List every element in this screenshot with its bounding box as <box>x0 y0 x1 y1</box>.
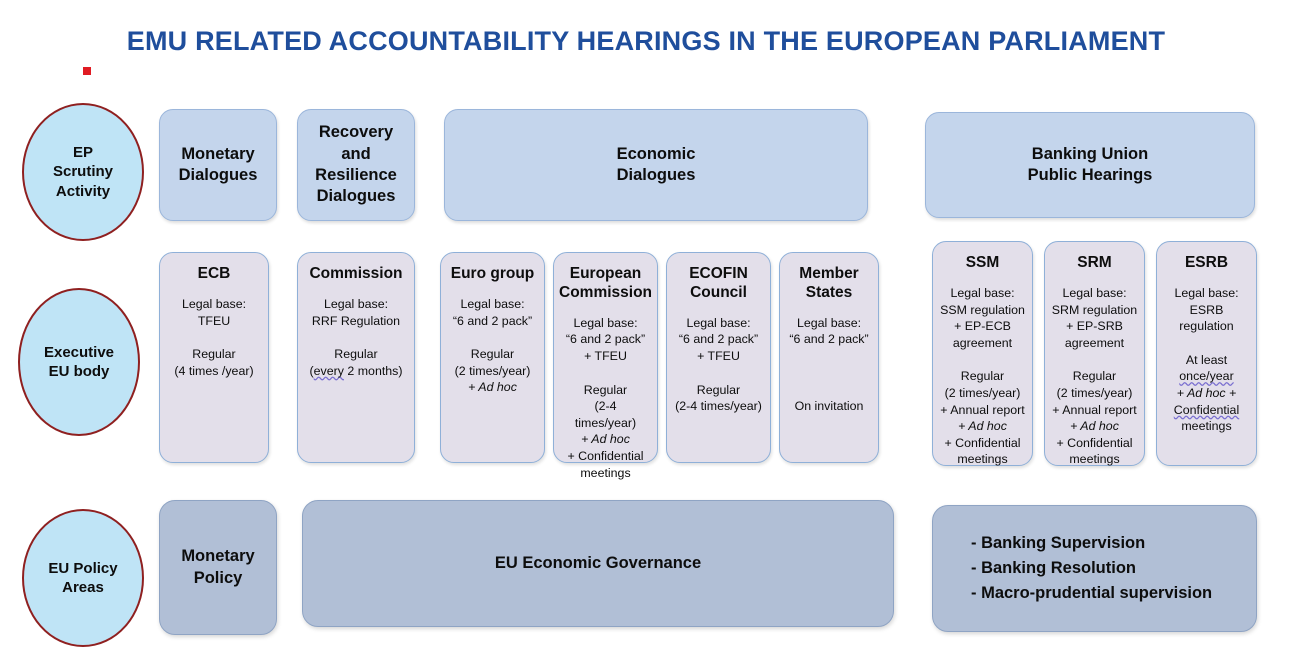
ecb-card-title: ECB <box>165 265 263 284</box>
ecofin-council-card[interactable]: ECOFIN Council Legal base: “6 and 2 pack… <box>666 252 771 463</box>
srm-card-title: SRM <box>1050 254 1139 273</box>
ssm-frequency-line-2: + Annual report <box>938 402 1027 419</box>
esrb-card[interactable]: ESRB Legal base: ESRB regulation At leas… <box>1156 241 1257 466</box>
ep-scrutiny-activity-circle: EP Scrutiny Activity <box>22 103 144 241</box>
esrb-frequency-line-0: At least <box>1162 352 1251 369</box>
ecb-frequency: Regular (4 times /year) <box>165 346 263 379</box>
esrb-frequency-adhoc: + Ad hoc + <box>1177 386 1236 400</box>
member-states-legal-base: Legal base: “6 and 2 pack” <box>785 315 873 348</box>
page-title: EMU RELATED ACCOUNTABILITY HEARINGS IN T… <box>0 26 1292 57</box>
executive-eu-body-circle: Executive EU body <box>18 288 140 436</box>
banking-union-policy-item-2: - Macro-prudential supervision <box>971 581 1212 606</box>
esrb-frequency: At least once/year + Ad hoc + Confidenti… <box>1162 352 1251 435</box>
economic-dialogues-box[interactable]: Economic Dialogues <box>444 109 868 221</box>
ecofin-council-card-title: ECOFIN Council <box>672 265 765 303</box>
euro-group-frequency-line-1: (2 times/year) <box>446 363 539 380</box>
ssm-legal-base: Legal base: SSM regulation + EP-ECB agre… <box>938 285 1027 351</box>
esrb-frequency-flagged-word-1: once/year <box>1179 369 1233 383</box>
executive-eu-body-label: Executive EU body <box>44 343 114 381</box>
commission-frequency: Regular (every 2 months) <box>303 346 409 379</box>
diagram-canvas: EMU RELATED ACCOUNTABILITY HEARINGS IN T… <box>0 0 1292 662</box>
economic-dialogues-label: Economic Dialogues <box>617 144 696 187</box>
euro-group-frequency-adhoc: + Ad hoc <box>468 380 517 394</box>
red-marker-dot <box>83 67 91 75</box>
esrb-frequency-tail: meetings <box>1162 418 1251 435</box>
ssm-frequency-line-1: (2 times/year) <box>938 385 1027 402</box>
srm-legal-base: Legal base: SRM regulation + EP-SRB agre… <box>1050 285 1139 351</box>
member-states-card-title: Member States <box>785 265 873 303</box>
ecofin-council-legal-base: Legal base: “6 and 2 pack” + TFEU <box>672 315 765 365</box>
srm-card[interactable]: SRM Legal base: SRM regulation + EP-SRB … <box>1044 241 1145 466</box>
eu-economic-governance-box[interactable]: EU Economic Governance <box>302 500 894 627</box>
european-commission-frequency-tail: + Confidential meetings <box>559 448 652 481</box>
european-commission-frequency: Regular (2-4 times/year) + Ad hoc + Conf… <box>559 382 652 482</box>
european-commission-frequency-line-2: times/year) <box>559 415 652 432</box>
banking-union-policies-list: - Banking Supervision - Banking Resoluti… <box>971 531 1212 606</box>
eu-economic-governance-label: EU Economic Governance <box>303 553 893 575</box>
ssm-frequency: Regular (2 times/year) + Annual report +… <box>938 368 1027 468</box>
banking-union-policies-box[interactable]: - Banking Supervision - Banking Resoluti… <box>932 505 1257 632</box>
commission-card-title: Commission <box>303 265 409 284</box>
banking-union-policy-item-1: - Banking Resolution <box>971 556 1212 581</box>
banking-union-public-hearings-label: Banking Union Public Hearings <box>1028 144 1153 187</box>
banking-union-policy-item-0: - Banking Supervision <box>971 531 1212 556</box>
commission-legal-base: Legal base: RRF Regulation <box>303 296 409 329</box>
euro-group-card-title: Euro group <box>446 265 539 284</box>
esrb-legal-base: Legal base: ESRB regulation <box>1162 285 1251 335</box>
euro-group-legal-base: Legal base: “6 and 2 pack” <box>446 296 539 329</box>
recovery-resilience-dialogues-box[interactable]: Recovery and Resilience Dialogues <box>297 109 415 221</box>
srm-frequency-line-0: Regular <box>1050 368 1139 385</box>
euro-group-frequency: Regular (2 times/year) + Ad hoc <box>446 346 539 396</box>
member-states-frequency: On invitation <box>785 398 873 415</box>
commission-card[interactable]: Commission Legal base: RRF Regulation Re… <box>297 252 415 463</box>
ssm-frequency-adhoc: + Ad hoc <box>958 419 1007 433</box>
srm-frequency: Regular (2 times/year) + Annual report +… <box>1050 368 1139 468</box>
euro-group-card[interactable]: Euro group Legal base: “6 and 2 pack” Re… <box>440 252 545 463</box>
member-states-card[interactable]: Member States Legal base: “6 and 2 pack”… <box>779 252 879 463</box>
european-commission-frequency-line-1: (2-4 <box>559 398 652 415</box>
esrb-frequency-flagged-word-2: Confidential <box>1174 403 1239 417</box>
european-commission-card-title: European Commission <box>559 265 652 303</box>
ep-scrutiny-activity-label: EP Scrutiny Activity <box>53 143 113 201</box>
ssm-card-title: SSM <box>938 254 1027 273</box>
european-commission-card[interactable]: European Commission Legal base: “6 and 2… <box>553 252 658 463</box>
ecofin-council-frequency: Regular (2-4 times/year) <box>672 382 765 415</box>
srm-frequency-line-1: (2 times/year) <box>1050 385 1139 402</box>
monetary-dialogues-box[interactable]: Monetary Dialogues <box>159 109 277 221</box>
banking-union-public-hearings-box[interactable]: Banking Union Public Hearings <box>925 112 1255 218</box>
european-commission-legal-base: Legal base: “6 and 2 pack” + TFEU <box>559 315 652 365</box>
ssm-card[interactable]: SSM Legal base: SSM regulation + EP-ECB … <box>932 241 1033 466</box>
ecb-legal-base: Legal base: TFEU <box>165 296 263 329</box>
srm-frequency-adhoc: + Ad hoc <box>1070 419 1119 433</box>
commission-frequency-flagged-word: every <box>314 364 344 378</box>
recovery-resilience-dialogues-label: Recovery and Resilience Dialogues <box>315 122 397 208</box>
ssm-frequency-line-0: Regular <box>938 368 1027 385</box>
euro-group-frequency-line-0: Regular <box>446 346 539 363</box>
eu-policy-areas-label: EU Policy Areas <box>48 559 117 597</box>
srm-frequency-tail: + Confidential meetings <box>1050 435 1139 468</box>
commission-frequency-post: 2 months) <box>344 364 403 378</box>
ecb-card[interactable]: ECB Legal base: TFEU Regular (4 times /y… <box>159 252 269 463</box>
european-commission-frequency-line-0: Regular <box>559 382 652 399</box>
monetary-policy-label: Monetary Policy <box>160 546 276 590</box>
monetary-dialogues-label: Monetary Dialogues <box>179 144 258 187</box>
european-commission-frequency-adhoc: + Ad hoc <box>581 432 630 446</box>
srm-frequency-line-2: + Annual report <box>1050 402 1139 419</box>
eu-policy-areas-circle: EU Policy Areas <box>22 509 144 647</box>
esrb-card-title: ESRB <box>1162 254 1251 273</box>
monetary-policy-box[interactable]: Monetary Policy <box>159 500 277 635</box>
ssm-frequency-tail: + Confidential meetings <box>938 435 1027 468</box>
